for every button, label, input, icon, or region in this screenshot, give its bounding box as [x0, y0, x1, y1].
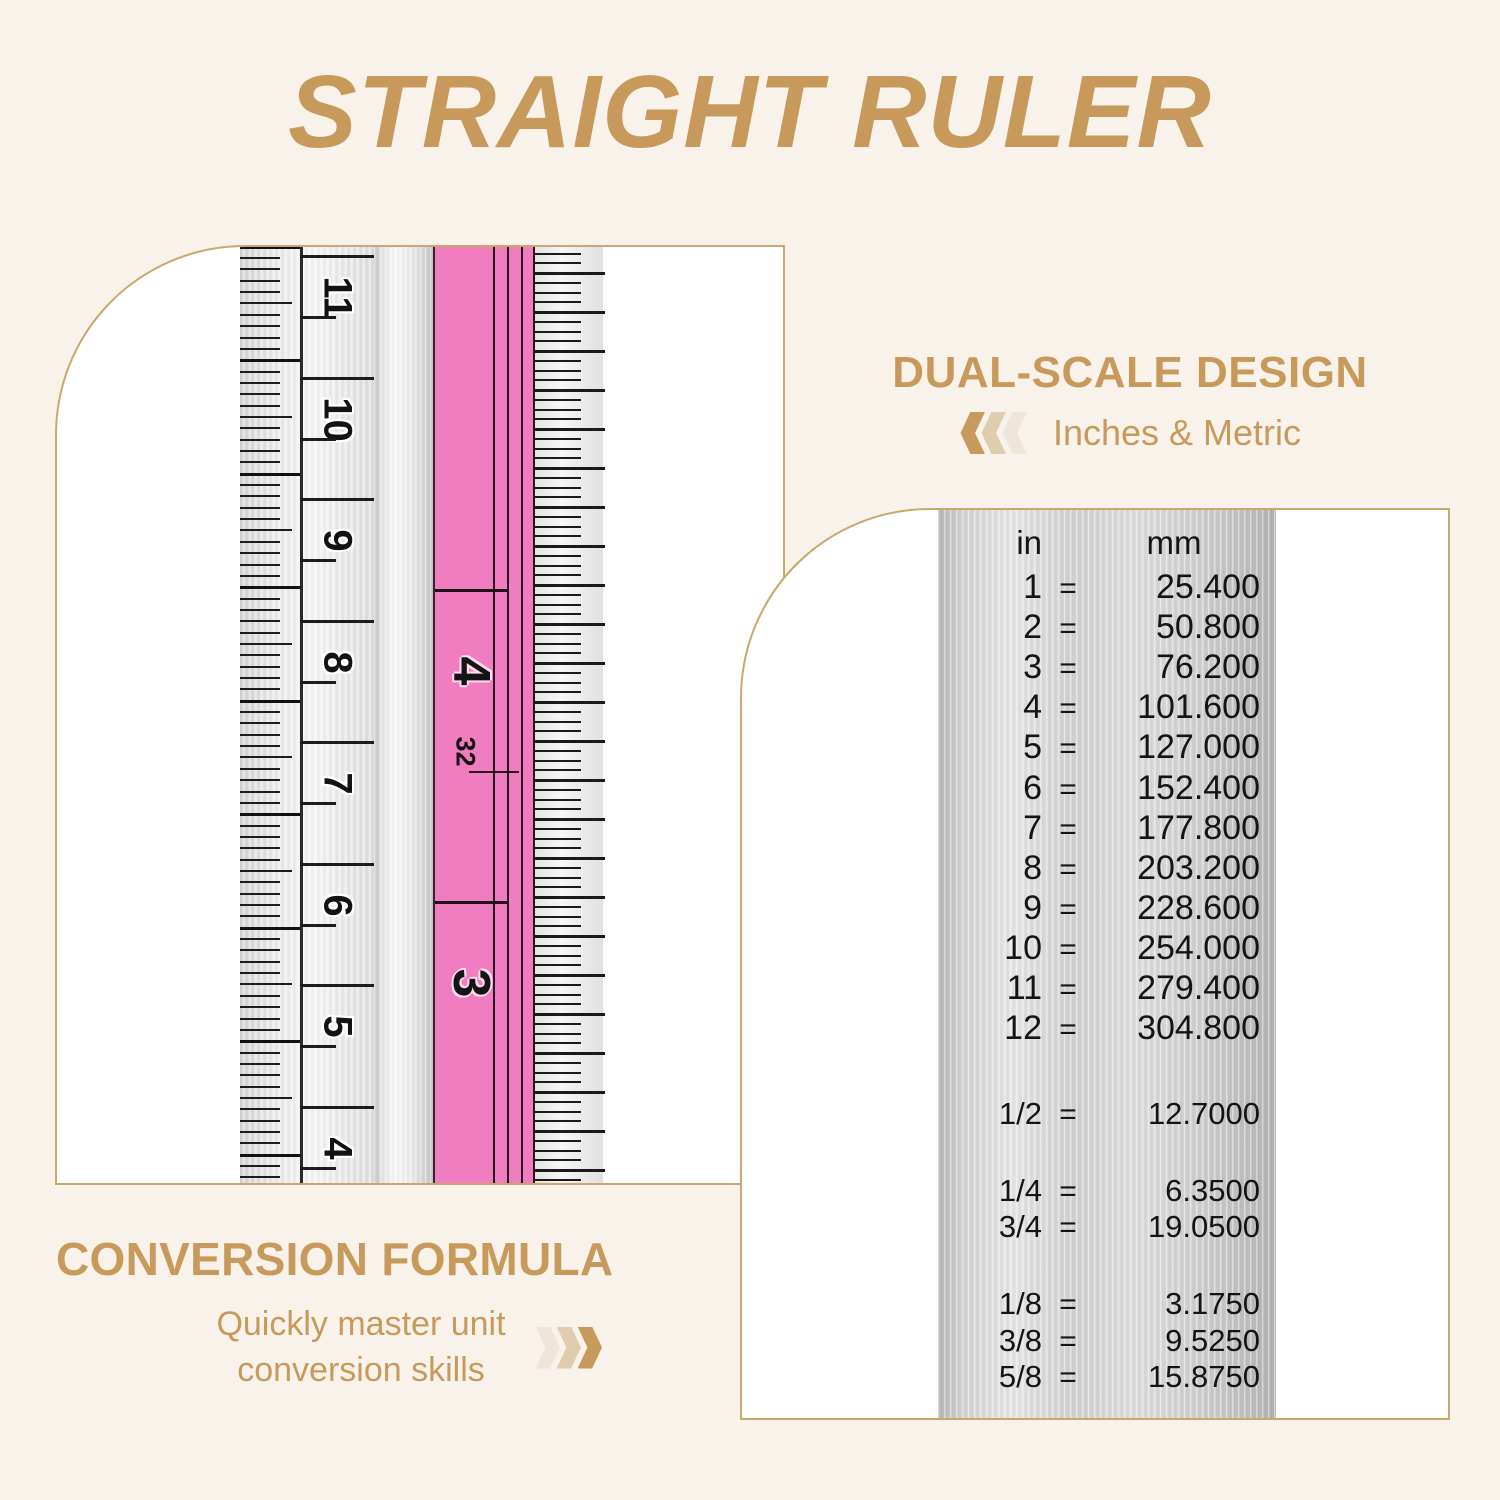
ruler-tick — [240, 1018, 280, 1020]
fine-tick — [535, 838, 581, 840]
fine-tick — [535, 1023, 581, 1025]
cm-gradation-line — [300, 924, 336, 927]
metric-edge-line — [300, 245, 303, 1185]
ruler-tick — [240, 552, 280, 554]
inch-divider-line-3 — [521, 245, 523, 1185]
ruler-tick — [240, 1086, 280, 1088]
cell-inches: 11 — [938, 968, 1042, 1008]
fine-tick — [535, 1150, 581, 1152]
fine-tick — [535, 370, 581, 372]
fine-tick — [535, 906, 581, 908]
fine-tick — [535, 789, 581, 791]
ruler-tick — [240, 461, 280, 463]
ruler-tick — [240, 870, 292, 872]
cm-cell-divider — [300, 377, 374, 380]
ruler-tick — [240, 1097, 292, 1099]
fine-tick — [535, 955, 581, 957]
metric-number: 7 — [315, 749, 360, 819]
fine-tick — [535, 613, 581, 615]
fine-tick — [535, 886, 581, 888]
cm-gradation-line — [300, 1167, 336, 1170]
ruler-tick — [240, 1108, 280, 1110]
cell-millimeters: 279.400 — [1094, 968, 1270, 1008]
ruler-tick — [240, 541, 280, 543]
ruler-tick — [240, 302, 292, 304]
fine-tick — [535, 1169, 605, 1172]
cell-millimeters: 6.3500 — [1094, 1173, 1270, 1210]
metric-number: 4 — [315, 1113, 360, 1183]
ruler-tick — [240, 382, 280, 384]
cell-inches: 8 — [938, 848, 1042, 888]
ruler-tick — [240, 904, 280, 906]
fine-tick — [535, 867, 581, 869]
inch-subdivision-line — [469, 771, 519, 773]
dual-scale-subtitle-row: Inches & Metric — [820, 412, 1440, 454]
fine-tick — [535, 438, 581, 440]
fine-tick — [535, 272, 605, 275]
ruler-tick — [240, 768, 280, 770]
fine-tick — [535, 1003, 581, 1005]
cell-millimeters: 19.0500 — [1094, 1209, 1270, 1246]
ruler-tick — [240, 688, 280, 690]
ruler-tick — [240, 1052, 280, 1054]
cell-equals: = — [1042, 892, 1094, 927]
cm-cell-divider — [300, 498, 374, 501]
ruler-tick — [240, 756, 292, 758]
cell-equals: = — [1042, 932, 1094, 967]
cell-millimeters: 50.800 — [1094, 607, 1270, 647]
ruler-tick — [240, 405, 280, 407]
ruler-tick — [240, 268, 280, 270]
ruler-tick — [240, 620, 280, 622]
ruler-tick — [240, 1131, 280, 1133]
table-row: 7=177.800 — [938, 808, 1276, 848]
conversion-table-plate: in mm 1=25.4002=50.8003=76.2004=101.6005… — [938, 508, 1276, 1420]
cm-gradation-line — [300, 802, 336, 805]
metric-number: 9 — [315, 506, 360, 576]
cell-inches: 1/2 — [938, 1096, 1042, 1133]
fine-tick — [535, 721, 581, 723]
cm-gradation-line — [300, 438, 336, 441]
cell-inches: 5 — [938, 727, 1042, 767]
ruler-tick — [240, 291, 280, 293]
cell-millimeters: 304.800 — [1094, 1008, 1270, 1048]
fine-tick — [535, 682, 581, 684]
fine-tick — [535, 984, 581, 986]
fine-tick — [535, 935, 605, 938]
whole-inch-rows: 1=25.4002=50.8003=76.2004=101.6005=127.0… — [938, 567, 1276, 1048]
fine-tick — [535, 896, 605, 899]
ruler-tick — [240, 802, 280, 804]
ruler-tick — [240, 325, 280, 327]
ruler-tick — [240, 314, 280, 316]
fine-tick — [535, 545, 605, 548]
cell-equals: = — [1042, 812, 1094, 847]
ruler-tick — [240, 983, 292, 985]
fine-tick — [535, 418, 581, 420]
ruler-tick — [240, 632, 280, 634]
fine-tick — [535, 750, 581, 752]
fine-tick — [535, 584, 605, 587]
ruler-tick — [240, 473, 302, 476]
fine-tick — [535, 487, 581, 489]
fine-tick — [535, 779, 605, 782]
fine-tick — [535, 643, 581, 645]
fine-tick — [535, 1072, 581, 1074]
ruler-tick — [240, 393, 280, 395]
cm-cell-divider — [300, 984, 374, 987]
dual-scale-section: DUAL-SCALE DESIGN Inches & Metric — [820, 348, 1440, 454]
cell-equals: = — [1042, 1324, 1094, 1359]
half-inch-rows: 1/2=12.7000 — [938, 1096, 1276, 1133]
fine-tick — [535, 360, 581, 362]
cell-equals: = — [1042, 731, 1094, 766]
cell-equals: = — [1042, 651, 1094, 686]
chevron-glyph — [1001, 412, 1027, 454]
table-row: 8=203.200 — [938, 848, 1276, 888]
cell-millimeters: 152.400 — [1094, 768, 1270, 808]
header-in-label: in — [938, 524, 1042, 562]
fine-tick — [535, 448, 581, 450]
cm-cell-divider — [300, 255, 374, 258]
fine-tick — [535, 457, 581, 459]
cell-equals: = — [1042, 611, 1094, 646]
cm-gradation-line — [300, 316, 336, 319]
ruler-tick — [240, 1063, 280, 1065]
ruler-tick — [240, 1176, 280, 1178]
fine-tick — [535, 301, 581, 303]
quarter-inch-rows: 1/4=6.35003/4=19.0500 — [938, 1173, 1276, 1246]
cell-equals: = — [1042, 571, 1094, 606]
fine-tick — [535, 730, 581, 732]
table-row: 1/8=3.1750 — [938, 1286, 1276, 1323]
table-row: 3/8=9.5250 — [938, 1323, 1276, 1360]
cell-inches: 7 — [938, 808, 1042, 848]
ruler-tick — [240, 1006, 280, 1008]
cell-millimeters: 254.000 — [1094, 928, 1270, 968]
ruler-tick — [240, 564, 280, 566]
eighth-inch-rows: 1/8=3.17503/8=9.52505/8=15.8750 — [938, 1286, 1276, 1396]
metric-number: 11 — [315, 263, 360, 333]
ruler-tick — [240, 779, 280, 781]
fine-tick — [535, 604, 581, 606]
table-row: 1=25.400 — [938, 567, 1276, 607]
ruler-tick — [240, 859, 280, 861]
table-row: 9=228.600 — [938, 888, 1276, 928]
cell-millimeters: 76.200 — [1094, 647, 1270, 687]
fine-tick — [535, 340, 581, 342]
fine-tick — [535, 691, 581, 693]
ruler-tick — [240, 643, 292, 645]
fine-tick — [535, 331, 581, 333]
inch-scale-pink: 432 32 — [433, 245, 533, 1185]
ruler-tick — [240, 972, 280, 974]
inch-number: 4 — [441, 639, 501, 703]
chevron-right-icon — [578, 1327, 604, 1369]
fine-tick — [535, 945, 581, 947]
ruler-image: 1110987654 432 32 — [240, 245, 605, 1185]
row-gap-2 — [938, 1133, 1276, 1173]
ruler-bevel-strip — [375, 245, 433, 1185]
metric-number: 6 — [315, 870, 360, 940]
ruler-tick — [240, 881, 280, 883]
fine-tick — [535, 1091, 605, 1094]
ruler-tick — [240, 575, 280, 577]
cm-gradation-line — [300, 681, 336, 684]
ruler-tick — [240, 745, 280, 747]
table-row: 12=304.800 — [938, 1008, 1276, 1048]
cell-millimeters: 15.8750 — [1094, 1359, 1270, 1396]
fine-tick — [535, 1101, 581, 1103]
ruler-tick — [240, 1154, 302, 1157]
fine-tick — [535, 623, 605, 626]
metric-tick-marks — [240, 245, 302, 1185]
fine-tick — [535, 399, 581, 401]
cell-inches: 6 — [938, 768, 1042, 808]
table-row: 4=101.600 — [938, 687, 1276, 727]
ruler-tick — [240, 949, 280, 951]
ruler-tick — [240, 722, 280, 724]
fine-tick — [535, 535, 581, 537]
ruler-tick — [240, 836, 280, 838]
ruler-tick — [240, 961, 280, 963]
fine-tick — [535, 565, 581, 567]
fine-tick — [535, 769, 581, 771]
cell-inches: 1 — [938, 567, 1042, 607]
ruler-tick — [240, 927, 302, 930]
fine-tick — [535, 925, 581, 927]
fine-tick — [535, 555, 581, 557]
ruler-tick — [240, 598, 280, 600]
conversion-formula-title: CONVERSION FORMULA — [40, 1232, 740, 1286]
fine-tick — [535, 477, 581, 479]
ruler-tick — [240, 711, 280, 713]
cell-equals: = — [1042, 772, 1094, 807]
ruler-tick — [240, 995, 280, 997]
ruler-tick — [240, 654, 280, 656]
conversion-table-panel: in mm 1=25.4002=50.8003=76.2004=101.6005… — [740, 508, 1450, 1420]
ruler-tick — [240, 893, 280, 895]
cell-inches: 1/4 — [938, 1173, 1042, 1210]
fine-tick — [535, 574, 581, 576]
table-row: 10=254.000 — [938, 928, 1276, 968]
fine-tick — [535, 262, 581, 264]
fine-tick — [535, 389, 605, 392]
fine-tick — [535, 672, 581, 674]
cell-millimeters: 177.800 — [1094, 808, 1270, 848]
cell-inches: 3/4 — [938, 1209, 1042, 1246]
fine-tick — [535, 1120, 581, 1122]
cm-cell-divider — [300, 741, 374, 744]
ruler-tick — [240, 507, 280, 509]
fine-tick — [535, 662, 605, 665]
fine-tick — [535, 409, 581, 411]
fine-tick — [535, 1130, 605, 1133]
ruler-tick — [240, 677, 280, 679]
ruler-tick — [240, 427, 280, 429]
ruler-tick — [240, 700, 302, 703]
fine-tick — [535, 282, 581, 284]
table-row: 2=50.800 — [938, 607, 1276, 647]
cm-gradation-line — [300, 1045, 336, 1048]
cell-inches: 9 — [938, 888, 1042, 928]
fine-tick — [535, 496, 581, 498]
ruler-tick — [240, 1142, 280, 1144]
inch-number: 3 — [441, 951, 501, 1015]
cell-inches: 3/8 — [938, 1323, 1042, 1360]
fine-tick — [535, 516, 581, 518]
cell-millimeters: 101.600 — [1094, 687, 1270, 727]
cell-inches: 5/8 — [938, 1359, 1042, 1396]
fine-tick — [535, 916, 581, 918]
ruler-tick — [240, 337, 280, 339]
fine-tick — [535, 994, 581, 996]
row-gap-3 — [938, 1246, 1276, 1286]
fine-tick — [535, 321, 581, 323]
table-row: 3=76.200 — [938, 647, 1276, 687]
cell-millimeters: 12.7000 — [1094, 1096, 1270, 1133]
ruler-tick — [240, 847, 280, 849]
fine-tick — [535, 633, 581, 635]
fine-tick — [535, 292, 581, 294]
inch-divider-line-1 — [493, 245, 495, 1185]
row-gap-1 — [938, 1048, 1276, 1096]
fine-tick — [535, 828, 581, 830]
cell-equals: = — [1042, 1210, 1094, 1245]
ruler-tick — [240, 1074, 280, 1076]
inch-subdivision-label: 32 — [450, 728, 481, 776]
cell-equals: = — [1042, 1097, 1094, 1132]
page-title: STRAIGHT RULER — [0, 58, 1500, 166]
fine-tick — [535, 1042, 581, 1044]
ruler-tick — [240, 1029, 280, 1031]
fine-tick — [535, 818, 605, 821]
dual-scale-subtitle: Inches & Metric — [1053, 412, 1301, 454]
fine-tick — [535, 594, 581, 596]
cm-cell-divider — [300, 1106, 374, 1109]
fine-tick — [535, 253, 581, 255]
cell-equals: = — [1042, 691, 1094, 726]
fine-tick — [535, 379, 581, 381]
inch-cell-divider — [435, 589, 507, 592]
fine-tick — [535, 311, 605, 314]
ruler-tick — [240, 450, 280, 452]
ruler-tick — [240, 359, 302, 362]
table-row: 5=127.000 — [938, 727, 1276, 767]
cm-gradation-line — [300, 559, 336, 562]
cell-inches: 2 — [938, 607, 1042, 647]
cell-inches: 1/8 — [938, 1286, 1042, 1323]
cm-cell-divider — [300, 620, 374, 623]
fine-tick — [535, 428, 605, 431]
chevron-glyph — [578, 1327, 604, 1369]
ruler-tick — [240, 586, 302, 589]
ruler-tick — [240, 280, 280, 282]
ruler-tick — [240, 825, 280, 827]
fine-tick — [535, 877, 581, 879]
ruler-tick — [240, 734, 280, 736]
cell-millimeters: 25.400 — [1094, 567, 1270, 607]
ruler-tick — [240, 257, 280, 259]
fine-tick — [535, 964, 581, 966]
cell-millimeters: 203.200 — [1094, 848, 1270, 888]
ruler-tick — [240, 915, 280, 917]
cell-inches: 10 — [938, 928, 1042, 968]
fine-tick — [535, 1111, 581, 1113]
chevron-left-group — [959, 412, 1027, 454]
ruler-tick — [240, 439, 280, 441]
cell-inches: 3 — [938, 647, 1042, 687]
ruler-tick — [240, 371, 280, 373]
fine-tick — [535, 467, 605, 470]
fine-tick — [535, 506, 605, 509]
ruler-tick — [240, 518, 280, 520]
cell-equals: = — [1042, 1012, 1094, 1047]
fine-tick — [535, 1033, 581, 1035]
fine-tick — [535, 1159, 581, 1161]
conversion-formula-subtitle: Quickly master unit conversion skills — [216, 1302, 505, 1393]
fine-tick — [535, 1052, 605, 1055]
cell-inches: 12 — [938, 1008, 1042, 1048]
fine-tick — [535, 857, 605, 860]
fine-tick — [535, 1179, 581, 1181]
fine-tick-scale — [533, 245, 603, 1185]
table-row: 1/4=6.3500 — [938, 1173, 1276, 1210]
ruler-tick — [240, 609, 280, 611]
fine-tick — [535, 1013, 605, 1016]
cell-millimeters: 228.600 — [1094, 888, 1270, 928]
ruler-tick — [240, 666, 280, 668]
ruler-tick — [240, 1040, 302, 1043]
fine-tick — [535, 974, 605, 977]
fine-tick — [535, 350, 605, 353]
table-row: 6=152.400 — [938, 768, 1276, 808]
chevron-right-group — [536, 1327, 604, 1369]
ruler-tick — [240, 1120, 280, 1122]
ruler-tick — [240, 813, 302, 816]
table-row: 5/8=15.8750 — [938, 1359, 1276, 1396]
conversion-table-header: in mm — [938, 518, 1276, 567]
fine-tick — [535, 526, 581, 528]
fine-tick — [535, 760, 581, 762]
cell-equals: = — [1042, 1360, 1094, 1395]
cell-equals: = — [1042, 1287, 1094, 1322]
fine-tick — [535, 808, 581, 810]
chevron-left-icon — [1001, 412, 1027, 454]
table-row: 11=279.400 — [938, 968, 1276, 1008]
ruler-tick — [240, 246, 302, 249]
table-row: 1/2=12.7000 — [938, 1096, 1276, 1133]
ruler-tick — [240, 416, 292, 418]
cell-equals: = — [1042, 1174, 1094, 1209]
conversion-formula-subtitle-row: Quickly master unit conversion skills — [40, 1302, 740, 1393]
cell-equals: = — [1042, 852, 1094, 887]
table-row: 3/4=19.0500 — [938, 1209, 1276, 1246]
metric-number: 5 — [315, 992, 360, 1062]
fine-tick — [535, 799, 581, 801]
fine-tick — [535, 847, 581, 849]
ruler-tick — [240, 348, 280, 350]
cell-millimeters: 3.1750 — [1094, 1286, 1270, 1323]
header-mm-label: mm — [1094, 524, 1262, 562]
metric-scale: 1110987654 — [240, 245, 375, 1185]
fine-tick — [535, 711, 581, 713]
cm-cell-divider — [300, 863, 374, 866]
dual-scale-title: DUAL-SCALE DESIGN — [820, 348, 1440, 398]
fine-tick — [535, 701, 605, 704]
ruler-tick — [240, 495, 280, 497]
ruler-photo-panel: 1110987654 432 32 — [55, 245, 785, 1185]
